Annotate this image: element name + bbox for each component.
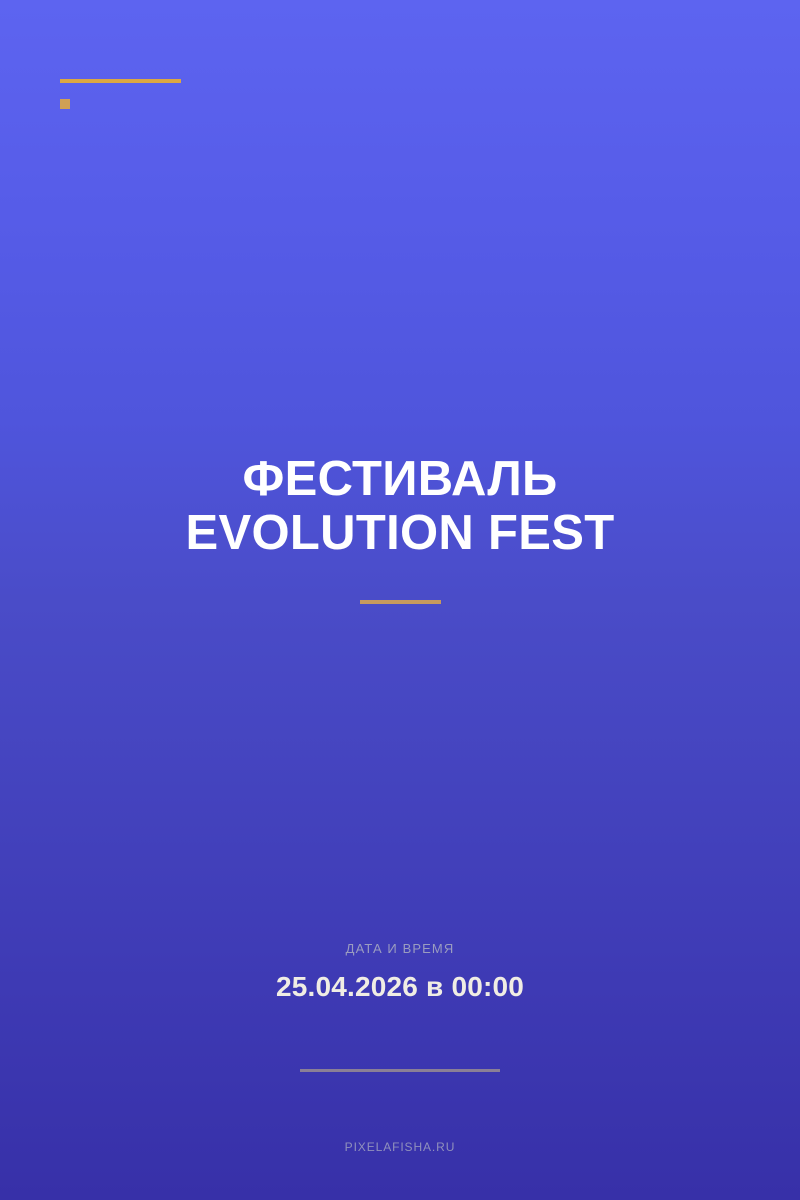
title-divider bbox=[360, 600, 441, 604]
gold-bar-icon bbox=[60, 79, 181, 83]
title-line-1: ФЕСТИВАЛЬ bbox=[0, 452, 800, 506]
date-time-label: ДАТА И ВРЕМЯ bbox=[0, 941, 800, 957]
date-time-value: 25.04.2026 в 00:00 bbox=[0, 971, 800, 1003]
poster-title: ФЕСТИВАЛЬ EVOLUTION FEST bbox=[0, 452, 800, 604]
event-poster: ФЕСТИВАЛЬ EVOLUTION FEST ДАТА И ВРЕМЯ 25… bbox=[0, 0, 800, 1200]
date-time-block: ДАТА И ВРЕМЯ 25.04.2026 в 00:00 bbox=[0, 941, 800, 1003]
footer-site-label: PIXELAFISHA.RU bbox=[345, 1140, 456, 1154]
poster-footer: PIXELAFISHA.RU bbox=[0, 1138, 800, 1156]
title-line-2: EVOLUTION FEST bbox=[0, 506, 800, 560]
bottom-divider bbox=[300, 1069, 500, 1072]
corner-decoration bbox=[60, 79, 181, 109]
gold-square-icon bbox=[60, 99, 70, 109]
